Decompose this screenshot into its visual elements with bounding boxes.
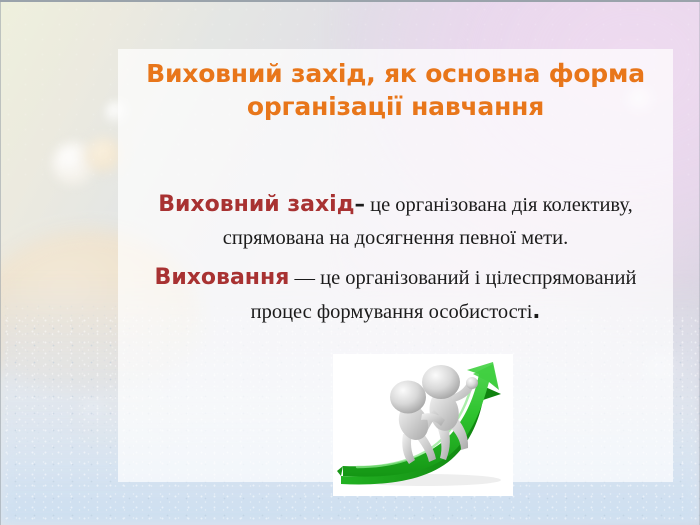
- figure-following-head: [390, 381, 426, 414]
- paragraph-2: Виховання — це організований і цілеспрям…: [118, 261, 673, 329]
- paragraph-1: Виховний захід– це організована дія коле…: [118, 188, 673, 255]
- figure-leading-head: [422, 365, 460, 399]
- term-vykhovnyi-zakhid: Виховний захід: [158, 192, 354, 217]
- growth-arrow-illustration: [333, 354, 513, 496]
- slide-title: Виховний захід, як основна форма організ…: [118, 57, 673, 123]
- paragraph-2-separator: —: [294, 267, 315, 289]
- presentation-slide: Виховний захід, як основна форма організ…: [0, 0, 700, 525]
- slide-left-edge: [0, 2, 1, 525]
- slide-body: Виховний захід– це організована дія коле…: [118, 188, 673, 329]
- growth-arrow-graphic: [333, 354, 513, 496]
- term-vykhovannya: Виховання: [155, 265, 290, 290]
- paragraph-1-separator: –: [354, 192, 365, 216]
- paragraph-2-trailing-period: .: [532, 299, 540, 323]
